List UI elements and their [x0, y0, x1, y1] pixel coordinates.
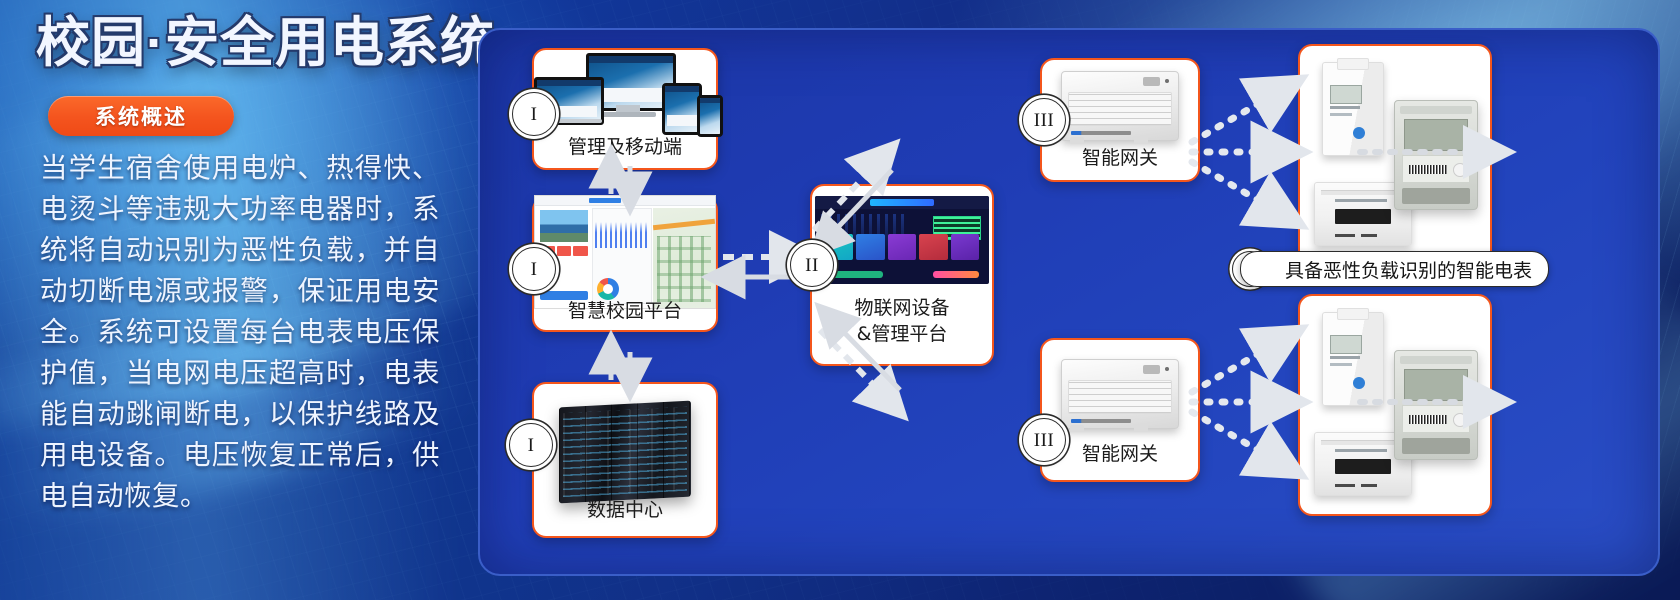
- meter-panel-bottom[interactable]: [1298, 294, 1492, 516]
- node-campus-platform[interactable]: 智慧校园平台: [532, 196, 718, 332]
- numeral-badge-iot: II: [790, 243, 834, 287]
- node-gateway-bottom[interactable]: 智能网关: [1040, 338, 1200, 482]
- numeral-badge-datacenter: I: [509, 423, 553, 467]
- node-iot-platform-label-line2: &管理平台: [812, 319, 992, 346]
- numeral-badge-gateway-top: III: [1022, 98, 1066, 142]
- node-management-label: 管理及移动端: [534, 132, 716, 159]
- smart-gateway-icon: [1042, 69, 1198, 143]
- din-meter-single-phase-icon: [1322, 62, 1384, 156]
- node-campus-platform-label: 智慧校园平台: [534, 296, 716, 323]
- node-iot-platform[interactable]: 物联网设备 &管理平台: [810, 184, 994, 366]
- din-meter-single-phase-icon: [1322, 312, 1384, 406]
- server-rack-icon: [534, 402, 716, 502]
- node-management[interactable]: 管理及移动端: [532, 48, 718, 170]
- meter-panel-top[interactable]: [1298, 44, 1492, 266]
- meter-group-label-text: 具备恶性负载识别的智能电表: [1285, 256, 1532, 283]
- numeral-badge-gateway-bottom: III: [1022, 418, 1066, 462]
- connector-campus-datacenter: [611, 352, 630, 380]
- node-datacenter-label: 数据中心: [534, 495, 716, 522]
- page-title: 校园·安全用电系统: [36, 16, 495, 70]
- multi-device-icon: [534, 56, 716, 132]
- node-gateway-top-label: 智能网关: [1042, 143, 1198, 170]
- intro-column: 校园·安全用电系统 系统概述 当学生宿舍使用电炉、热得快、电烫斗等违规大功率电器…: [0, 0, 470, 600]
- numeral-badge-management: I: [512, 92, 556, 136]
- connector-management-campus: [611, 166, 630, 194]
- dashboard-map-icon: [534, 204, 716, 300]
- meter-group-label: 具备恶性负载识别的智能电表: [1240, 251, 1549, 287]
- numeral-badge-campus: I: [512, 247, 556, 291]
- poster-stage: 校园·安全用电系统 系统概述 当学生宿舍使用电炉、热得快、电烫斗等违规大功率电器…: [0, 0, 1680, 600]
- panel-meter-icon: [1394, 100, 1478, 210]
- panel-meter-icon: [1394, 350, 1478, 460]
- section-badge: 系统概述: [48, 96, 234, 136]
- architecture-diagram: 管理及移动端 I 智慧校园平台: [478, 28, 1660, 576]
- node-iot-platform-label-line1: 物联网设备: [812, 293, 992, 320]
- node-datacenter[interactable]: 数据中心: [532, 382, 718, 538]
- iot-platform-screen-icon: [812, 192, 992, 288]
- smart-gateway-icon: [1042, 354, 1198, 434]
- description-text: 当学生宿舍使用电炉、热得快、电烫斗等违规大功率电器时，系统将自动识别为恶性负载，…: [40, 148, 440, 517]
- section-badge-label: 系统概述: [95, 101, 187, 131]
